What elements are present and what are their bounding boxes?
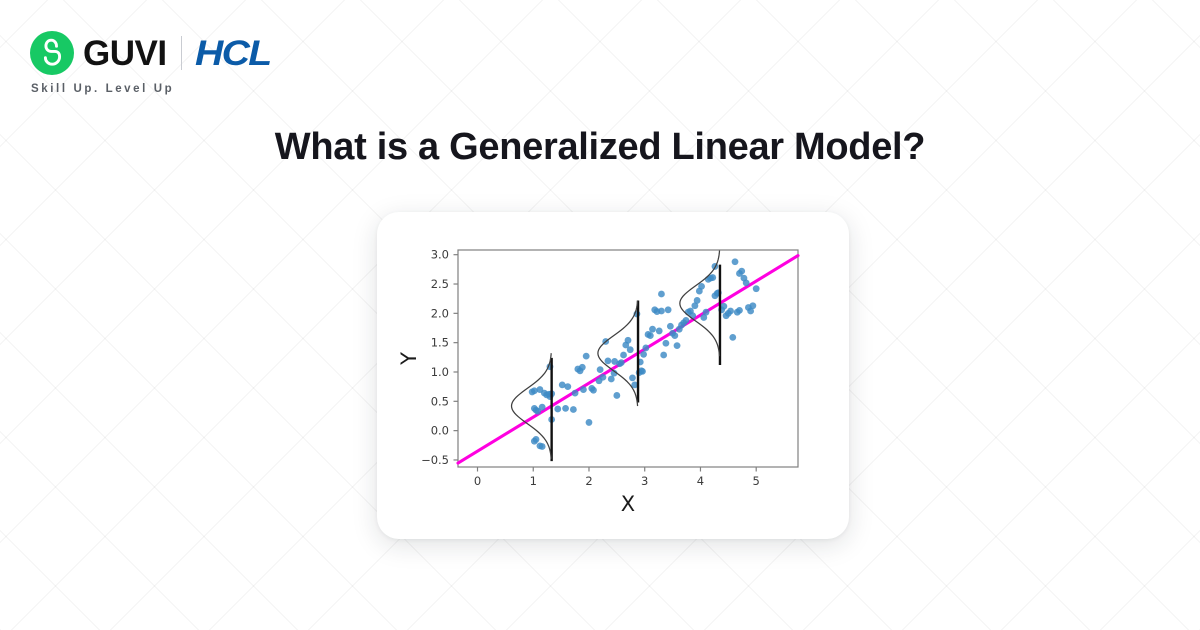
scatter-point bbox=[618, 359, 625, 366]
scatter-point bbox=[738, 268, 745, 275]
scatter-point bbox=[671, 332, 678, 339]
scatter-point bbox=[642, 345, 649, 352]
y-tick-label: 0.0 bbox=[431, 424, 449, 438]
x-tick-label: 2 bbox=[585, 474, 592, 488]
scatter-point bbox=[640, 351, 647, 358]
scatter-point bbox=[570, 406, 577, 413]
x-tick-label: 0 bbox=[474, 474, 481, 488]
chart-card: 012345−0.50.00.51.01.52.02.53.0XY bbox=[377, 212, 849, 539]
scatter-point bbox=[656, 328, 663, 335]
scatter-point bbox=[667, 323, 674, 330]
x-tick-label: 1 bbox=[530, 474, 537, 488]
scatter-point bbox=[647, 332, 654, 339]
y-axis-label: Y bbox=[397, 352, 421, 366]
scatter-point bbox=[583, 353, 590, 360]
y-tick-label: 1.5 bbox=[431, 336, 449, 350]
scatter-point bbox=[613, 392, 620, 399]
scatter-point bbox=[749, 302, 756, 309]
page-title: What is a Generalized Linear Model? bbox=[0, 126, 1200, 169]
y-tick-label: 2.0 bbox=[431, 306, 449, 320]
scatter-point bbox=[533, 436, 540, 443]
scatter-point bbox=[554, 406, 561, 413]
x-axis-label: X bbox=[621, 492, 635, 516]
scatter-point bbox=[627, 346, 634, 353]
brand-logo-lockup: GUVI HCL Skill Up. Level Up bbox=[30, 30, 360, 95]
scatter-point bbox=[572, 390, 579, 397]
scatter-point bbox=[753, 285, 760, 292]
scatter-point bbox=[683, 317, 690, 324]
scatter-point bbox=[720, 303, 727, 310]
x-tick-label: 5 bbox=[753, 474, 760, 488]
scatter-point bbox=[586, 419, 593, 426]
scatter-point bbox=[590, 387, 597, 394]
scatter-point bbox=[620, 352, 627, 359]
scatter-point bbox=[600, 374, 607, 381]
scatter-point bbox=[608, 376, 615, 383]
scatter-plot-figure: 012345−0.50.00.51.01.52.02.53.0XY bbox=[377, 212, 849, 539]
scatter-point bbox=[629, 374, 636, 381]
scatter-point bbox=[597, 366, 604, 373]
scatter-point bbox=[579, 364, 586, 371]
scatter-point bbox=[743, 279, 750, 286]
scatter-point bbox=[663, 340, 670, 347]
scatter-point bbox=[649, 326, 656, 333]
guvi-wordmark: GUVI bbox=[83, 36, 167, 71]
scatter-point bbox=[736, 307, 743, 314]
y-tick-label: 2.5 bbox=[431, 277, 449, 291]
scatter-point bbox=[639, 368, 646, 375]
y-tick-label: 3.0 bbox=[431, 248, 449, 262]
x-tick-label: 4 bbox=[697, 474, 704, 488]
y-tick-label: 1.0 bbox=[431, 365, 449, 379]
brand-tagline: Skill Up. Level Up bbox=[31, 83, 360, 95]
y-tick-label: −0.5 bbox=[421, 453, 449, 467]
scatter-point bbox=[564, 383, 571, 390]
scatter-point bbox=[531, 387, 538, 394]
y-tick-label: 0.5 bbox=[431, 394, 449, 408]
hcl-wordmark: HCL bbox=[195, 36, 271, 71]
scatter-point bbox=[539, 404, 546, 411]
x-tick-label: 3 bbox=[641, 474, 648, 488]
scatter-point bbox=[539, 443, 546, 450]
scatter-point bbox=[658, 291, 665, 298]
scatter-point bbox=[694, 297, 701, 304]
scatter-point bbox=[698, 283, 705, 290]
scatter-point bbox=[674, 342, 681, 349]
scatter-point bbox=[605, 357, 612, 364]
scatter-point bbox=[658, 308, 665, 315]
scatter-point bbox=[727, 308, 734, 315]
guvi-g-mark-icon bbox=[30, 31, 74, 75]
scatter-point bbox=[709, 274, 716, 281]
scatter-point bbox=[611, 358, 618, 365]
scatter-point bbox=[580, 386, 587, 393]
brand-row: GUVI HCL bbox=[30, 30, 360, 76]
scatter-point bbox=[703, 309, 710, 316]
scatter-point bbox=[732, 258, 739, 265]
scatter-point bbox=[665, 306, 672, 313]
brand-divider bbox=[181, 36, 182, 70]
scatter-point bbox=[562, 405, 569, 412]
scatter-point bbox=[625, 337, 632, 344]
scatter-point bbox=[660, 352, 667, 359]
scatter-point bbox=[729, 334, 736, 341]
